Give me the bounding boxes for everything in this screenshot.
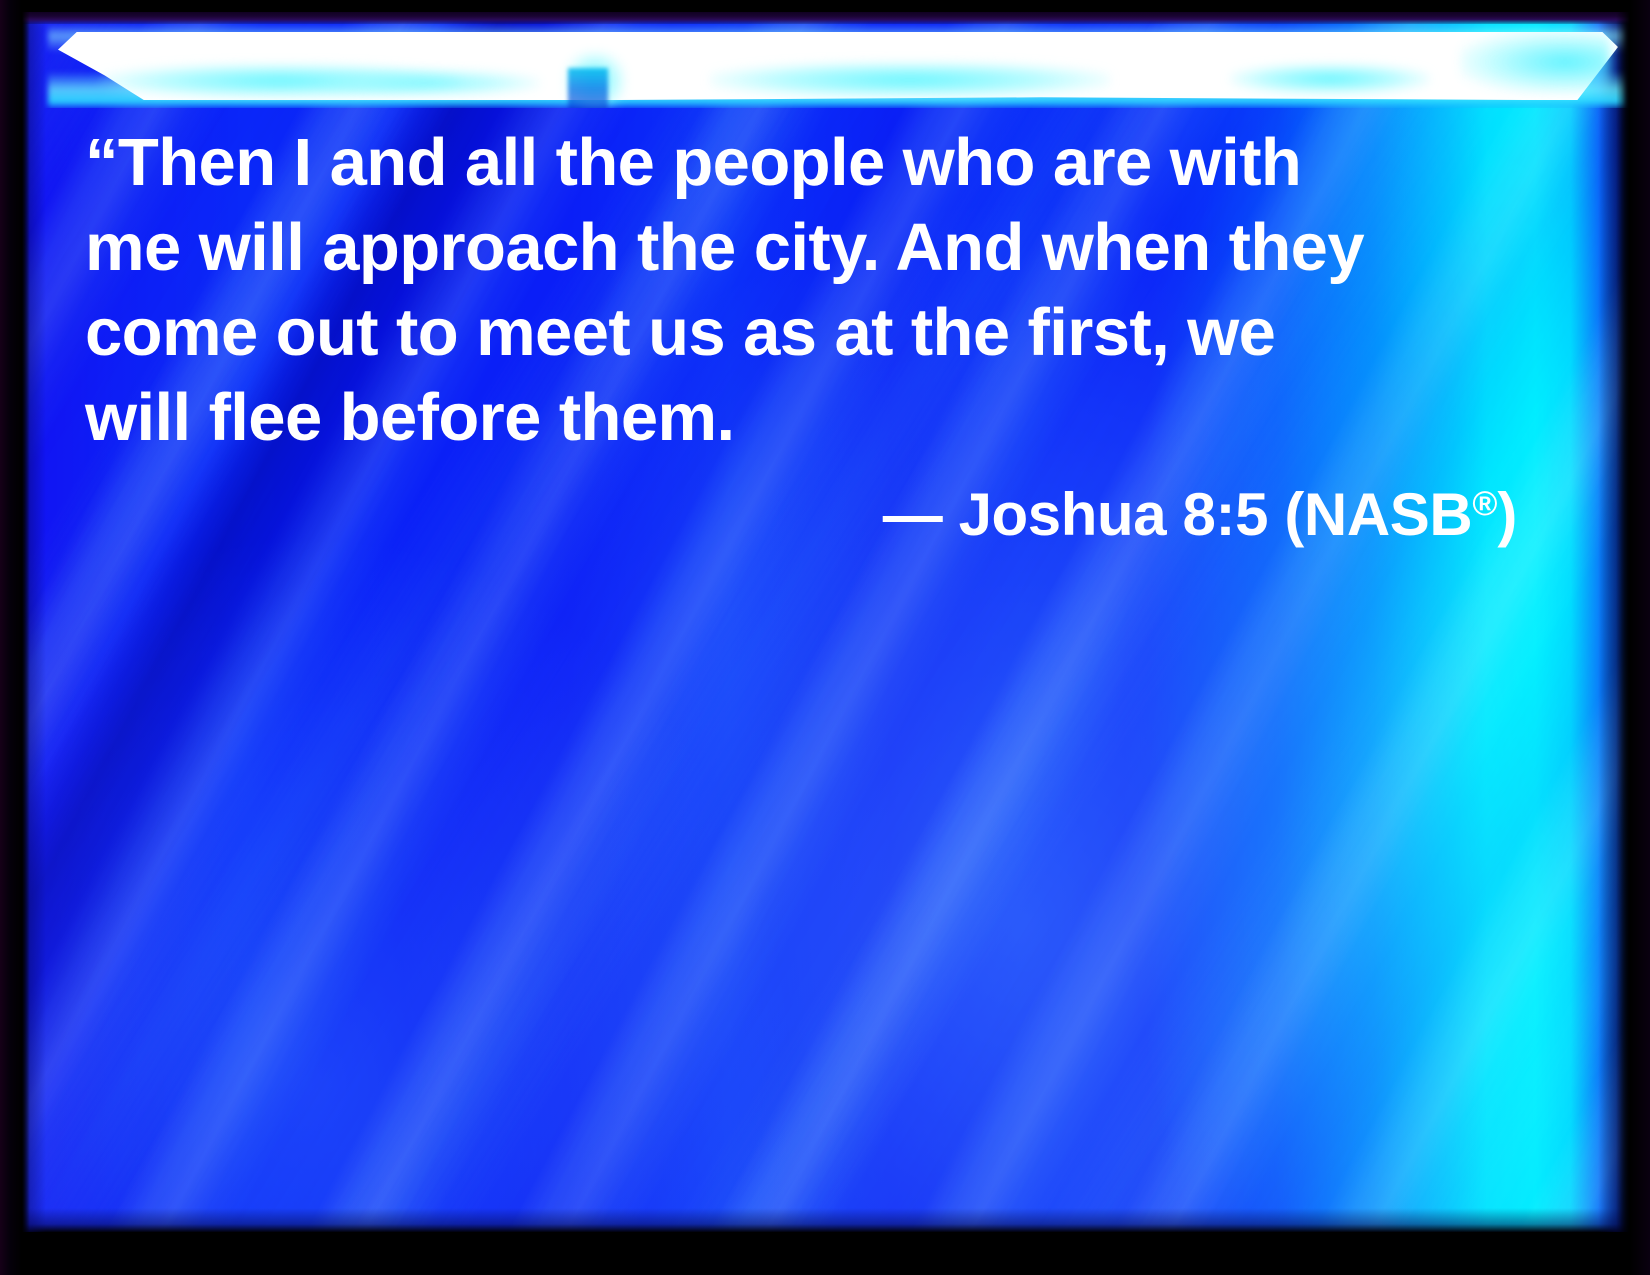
top-band-notch <box>568 68 608 108</box>
verse-citation: — Joshua 8:5 (NASB®) <box>85 460 1565 559</box>
slide-root: “Then I and all the people who are with … <box>0 0 1650 1275</box>
verse-line-2: me will approach the city. And when they <box>85 205 1565 290</box>
top-hairline-border <box>20 12 1632 24</box>
cyan-cloud-blob <box>320 70 540 96</box>
verse-line-1: “Then I and all the people who are with <box>85 120 1565 205</box>
citation-paren-close: ) <box>1497 481 1517 548</box>
slide-canvas: “Then I and all the people who are with … <box>20 12 1632 1232</box>
cyan-cloud-blob <box>1460 30 1610 94</box>
registered-trademark-icon: ® <box>1472 485 1497 523</box>
verse-text-block: “Then I and all the people who are with … <box>85 120 1565 559</box>
cyan-cloud-blob <box>710 62 1110 98</box>
citation-em-dash: — <box>883 481 943 548</box>
cyan-cloud-blob <box>1230 64 1430 94</box>
citation-book: Joshua <box>959 481 1167 548</box>
citation-translation: (NASB <box>1284 481 1472 548</box>
verse-line-3: come out to meet us as at the first, we <box>85 290 1565 375</box>
top-white-band <box>20 12 1632 108</box>
verse-line-4: will flee before them. <box>85 375 1565 460</box>
citation-reference: 8:5 <box>1183 481 1269 548</box>
